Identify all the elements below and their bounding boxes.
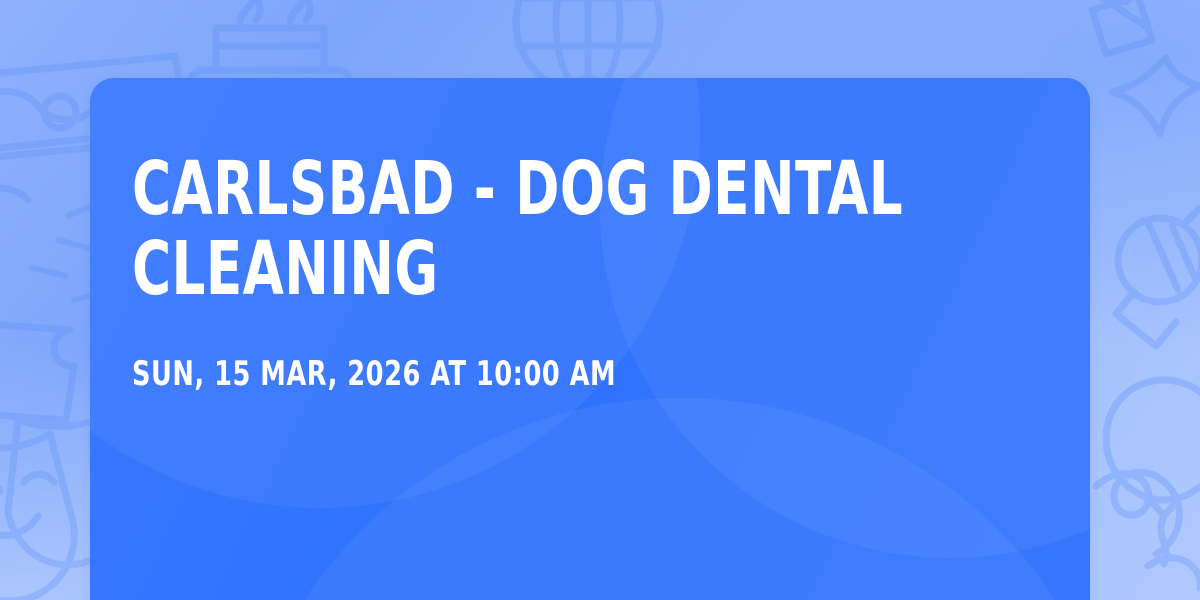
event-datetime: Sun, 15 Mar, 2026 at 10:00 AM xyxy=(132,354,1000,394)
event-title: Carlsbad - Dog Dental Cleaning xyxy=(132,150,1000,310)
gift-icon xyxy=(1092,0,1152,54)
event-banner: Carlsbad - Dog Dental Cleaning Sun, 15 M… xyxy=(0,0,1200,600)
streamer-icon xyxy=(1096,472,1200,588)
microphone-icon xyxy=(1116,208,1200,346)
ticket-icon xyxy=(0,322,74,420)
card-content: Carlsbad - Dog Dental Cleaning Sun, 15 M… xyxy=(132,150,1000,394)
event-card[interactable]: Carlsbad - Dog Dental Cleaning Sun, 15 M… xyxy=(90,78,1090,600)
sparkle-icon xyxy=(1112,58,1200,134)
